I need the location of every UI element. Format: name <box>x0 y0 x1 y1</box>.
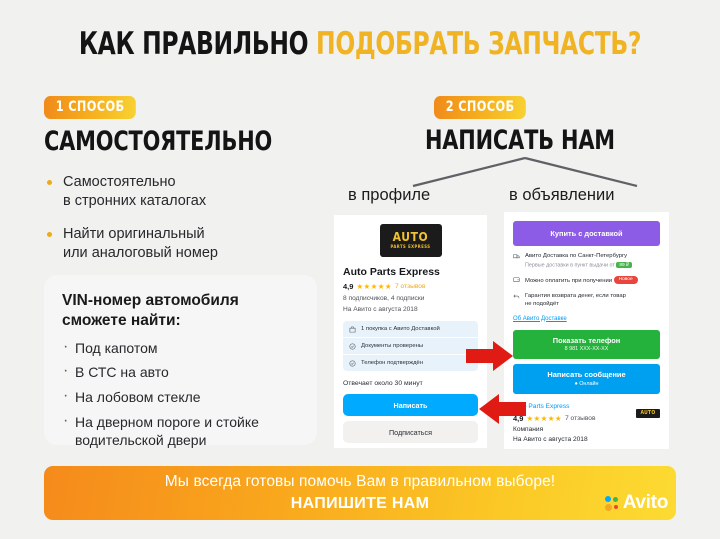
seller-member-since: На Авито с августа 2018 <box>513 436 660 443</box>
check-circle-icon <box>349 343 356 350</box>
cta-banner-line2: НАПИШИТЕ НАМ <box>291 495 429 513</box>
online-status: ● Онлайн <box>513 381 660 387</box>
rating-row: 4,9 ★★★★★ 7 отзывов <box>343 282 478 291</box>
list-item: Найти оригинальный или аналоговый номер <box>44 225 344 264</box>
shop-logo: AUTO PARTS EXPRESS <box>380 224 442 257</box>
page-title-gold: ПОДОБРАТЬ ЗАПЧАСТЬ? <box>316 26 641 62</box>
about-delivery-link[interactable]: Об Авито Доставке <box>513 316 660 322</box>
wallet-icon <box>513 276 520 283</box>
pay-on-receipt-label: Можно оплатить при получении <box>525 278 612 284</box>
reviews-link[interactable]: 7 отзывов <box>395 283 425 290</box>
delivery-city-line: Авито Доставка по Санкт-Петербургу <box>525 253 632 261</box>
avito-dots-icon <box>605 496 620 511</box>
cta-banner: Мы всегда готовы помочь Вам в правильном… <box>44 466 676 520</box>
badge-documents-verified: Документы проверены <box>343 338 478 354</box>
show-phone-number: 8 981 XXX-XX-XX <box>513 346 660 352</box>
delivery-price-tag: 89 ₽ <box>616 262 632 268</box>
profile-badge-list: 1 покупка с Авито Доставкой Документы пр… <box>343 321 478 371</box>
method-2-pill: 2 СПОСОБ <box>434 96 526 119</box>
truck-icon <box>513 253 520 260</box>
refund-guarantee-text: Гарантия возврата денег, если товар не п… <box>525 293 626 309</box>
seller-type: Компания <box>513 426 660 433</box>
write-message-button[interactable]: Написать сообщение ● Онлайн <box>513 364 660 394</box>
write-button[interactable]: Написать <box>343 394 478 416</box>
method-1-column: 1 СПОСОБ САМОСТОЯТЕЛЬНО Самостоятельно в… <box>44 96 344 276</box>
badge-label: Телефон подтверждён <box>361 360 423 366</box>
profile-body: Auto Parts Express 4,9 ★★★★★ 7 отзывов 8… <box>334 266 487 443</box>
branch-label-profile: в профиле <box>348 186 430 205</box>
vin-card-title: VIN-номер автомобиля сможете найти: <box>62 291 300 331</box>
refund-guarantee-row: Гарантия возврата денег, если товар не п… <box>513 293 660 309</box>
arrow-left-icon <box>478 394 526 424</box>
delivery-price-label: Первые доставки в пункт выдачи от <box>525 263 615 269</box>
avito-logo: Avito <box>605 492 668 514</box>
shop-logo-sub: PARTS EXPRESS <box>390 245 430 249</box>
ad-body: Купить с доставкой Авито Доставка по Сан… <box>504 221 669 449</box>
list-item: На лобовом стекле <box>62 389 300 407</box>
rating-value: 4,9 <box>343 282 353 291</box>
list-item: Под капотом <box>62 340 300 358</box>
list-item: Самостоятельно в стронних каталогах <box>44 173 344 212</box>
branch-label-ad: в объявлении <box>509 186 614 205</box>
method-1-bullet-list: Самостоятельно в стронних каталогах Найт… <box>44 173 344 263</box>
seller-reviews-link[interactable]: 7 отзывов <box>565 415 595 422</box>
seller-mini-logo-text: AUTO <box>640 410 655 416</box>
arrow-right-icon <box>466 341 514 371</box>
badge-label: Документы проверены <box>361 343 423 349</box>
seller-mini-logo: AUTO <box>636 409 660 418</box>
return-arrow-icon <box>513 293 520 300</box>
write-message-label: Написать сообщение <box>513 370 660 379</box>
delivery-box-icon <box>349 326 356 333</box>
pay-on-receipt-text: Можно оплатить при получении Новое <box>525 276 638 286</box>
online-status-label: Онлайн <box>579 381 598 387</box>
list-item: На дверном пороге и стойке водительской … <box>62 414 300 450</box>
star-rating-icon: ★★★★★ <box>356 282 392 291</box>
new-tag: Новое <box>614 276 638 284</box>
check-circle-icon <box>349 360 356 367</box>
pay-on-receipt-row: Можно оплатить при получении Новое <box>513 276 660 286</box>
badge-label: 1 покупка с Авито Доставкой <box>361 326 440 332</box>
page-title: КАК ПРАВИЛЬНО ПОДОБРАТЬ ЗАПЧАСТЬ? <box>58 26 663 62</box>
show-phone-label: Показать телефон <box>513 336 660 345</box>
delivery-text-block: Авито Доставка по Санкт-Петербургу Первы… <box>525 253 632 269</box>
seller-info-block: AUTO Auto Parts Express 4,9 ★★★★★ 7 отзы… <box>513 403 660 449</box>
method-1-pill-wrap: 1 СПОСОБ <box>44 96 344 119</box>
ad-screenshot-card: Купить с доставкой Авито Доставка по Сан… <box>504 212 669 449</box>
method-2-pill-wrap: 2 СПОСОБ <box>434 96 703 119</box>
profile-screenshot-card: AUTO PARTS EXPRESS Auto Parts Express 4,… <box>334 215 487 448</box>
list-item: В СТС на авто <box>62 364 300 382</box>
delivery-price-line: Первые доставки в пункт выдачи от 89 ₽ <box>525 262 632 268</box>
vin-location-list: Под капотом В СТС на авто На лобовом сте… <box>62 340 300 450</box>
badge-delivery-purchase: 1 покупка с Авито Доставкой <box>343 321 478 337</box>
shop-logo-main: AUTO <box>393 231 429 243</box>
badge-phone-confirmed: Телефон подтверждён <box>343 355 478 371</box>
method-2-heading: НАПИСАТЬ НАМ <box>425 127 664 154</box>
buy-with-delivery-button[interactable]: Купить с доставкой <box>513 221 660 246</box>
method-2-column: 2 СПОСОБ НАПИСАТЬ НАМ <box>383 96 703 158</box>
shop-name: Auto Parts Express <box>343 266 478 278</box>
poster-root: КАК ПРАВИЛЬНО ПОДОБРАТЬ ЗАПЧАСТЬ? 1 СПОС… <box>0 0 720 539</box>
reply-time: Отвечает около 30 минут <box>343 380 478 387</box>
member-since: На Авито с августа 2018 <box>343 306 478 313</box>
seller-star-rating-icon: ★★★★★ <box>526 414 562 423</box>
page-title-black: КАК ПРАВИЛЬНО <box>79 26 316 62</box>
subscribe-button[interactable]: Подписаться <box>343 421 478 443</box>
delivery-info-row: Авито Доставка по Санкт-Петербургу Первы… <box>513 253 660 269</box>
avito-wordmark: Avito <box>623 492 668 514</box>
show-phone-button[interactable]: Показать телефон 8 981 XXX-XX-XX <box>513 330 660 360</box>
vin-info-card: VIN-номер автомобиля сможете найти: Под … <box>44 275 317 445</box>
method-1-pill: 1 СПОСОБ <box>44 96 136 119</box>
method-1-heading: САМОСТОЯТЕЛЬНО <box>44 128 302 155</box>
cta-banner-line1: Мы всегда готовы помочь Вам в правильном… <box>165 473 555 491</box>
followers-count: 8 подписчиков, 4 подписки <box>343 295 478 302</box>
